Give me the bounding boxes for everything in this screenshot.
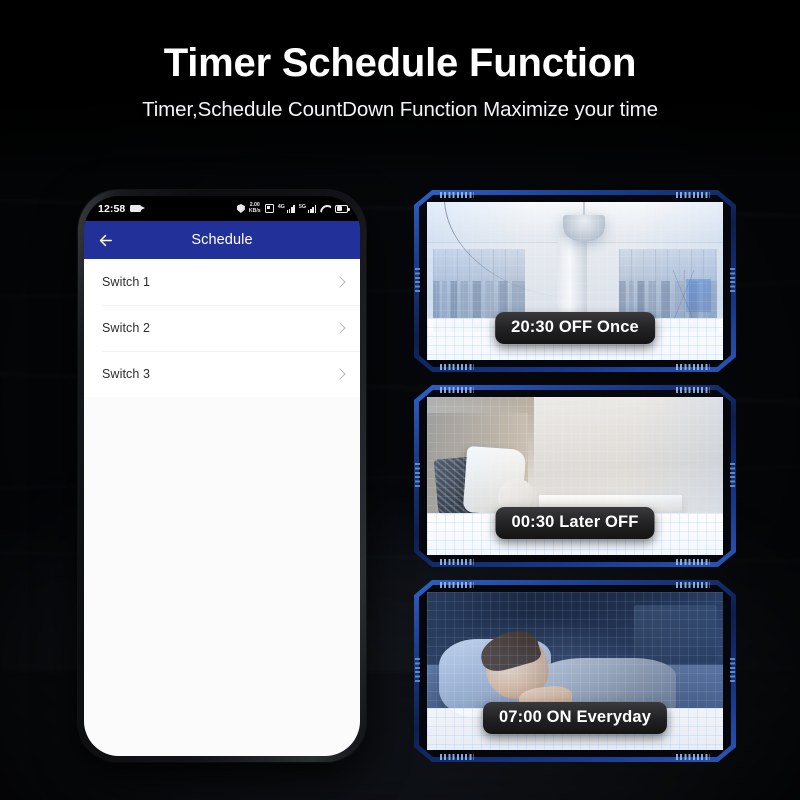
page-subtitle: Timer,Schedule CountDown Function Maximi… <box>0 98 800 122</box>
page-title: Timer Schedule Function <box>0 40 800 87</box>
app-content: Switch 1 Switch 2 Switch 3 <box>84 259 360 756</box>
network-1-label: 4G <box>278 204 285 210</box>
data-speed-icon: 2.00 KB/s <box>249 203 261 213</box>
frame-tick-bottom-right <box>676 364 710 370</box>
status-bar-icons: 2.00 KB/s 4G 5G <box>237 203 348 213</box>
frame-tick-top-left <box>440 192 474 198</box>
data-rate-unit: KB/s <box>249 209 261 214</box>
chevron-right-icon <box>334 276 345 287</box>
chevron-right-icon <box>334 322 345 333</box>
frame-tick-right <box>730 268 735 294</box>
battery-icon <box>335 205 348 213</box>
signal-bars-1 <box>287 205 295 213</box>
preview-card-off-once: 20:30 OFF Once <box>414 190 736 372</box>
frame-tick-top-right <box>676 387 710 393</box>
frame-tick-left <box>415 658 420 684</box>
status-bar-time: 12:58 <box>98 203 125 215</box>
wifi-icon <box>320 205 331 213</box>
frame-tick-left <box>415 463 420 489</box>
frame-tick-bottom-right <box>676 754 710 760</box>
preview-card-on-everyday: 07:00 ON Everyday <box>414 580 736 762</box>
app-bar: Schedule <box>84 221 360 259</box>
video-record-icon <box>130 205 141 212</box>
schedule-switch-list: Switch 1 Switch 2 Switch 3 <box>84 259 360 397</box>
app-bar-title: Schedule <box>84 232 360 248</box>
sim-card-icon <box>265 204 274 213</box>
list-item-label: Switch 2 <box>102 321 150 335</box>
frame-tick-right <box>730 463 735 489</box>
arrow-left-icon <box>97 232 114 249</box>
phone-mockup: 12:58 2.00 KB/s 4G 5G <box>78 190 366 762</box>
frame-tick-top-right <box>676 582 710 588</box>
heading-block: Timer Schedule Function Timer,Schedule C… <box>0 40 800 122</box>
frame-tick-right <box>730 658 735 684</box>
frame-tick-left <box>415 268 420 294</box>
card-label-text: 00:30 Later OFF <box>496 507 655 539</box>
frame-tick-bottom-left <box>440 754 474 760</box>
frame-tick-bottom-right <box>676 559 710 565</box>
frame-tick-top-right <box>676 192 710 198</box>
list-item-switch-3[interactable]: Switch 3 <box>84 351 360 397</box>
phone-screen: 12:58 2.00 KB/s 4G 5G <box>84 196 360 756</box>
frame-tick-bottom-left <box>440 364 474 370</box>
list-item-switch-2[interactable]: Switch 2 <box>84 305 360 351</box>
signal-5g-icon: 5G <box>299 204 316 213</box>
preview-card-later-off: 00:30 Later OFF <box>414 385 736 567</box>
signal-4g-icon: 4G <box>278 204 295 213</box>
card-label-text: 20:30 OFF Once <box>495 312 655 344</box>
network-2-label: 5G <box>299 204 306 210</box>
list-item-switch-1[interactable]: Switch 1 <box>84 259 360 305</box>
list-item-label: Switch 3 <box>102 367 150 381</box>
list-item-label: Switch 1 <box>102 275 150 289</box>
card-label-text: 07:00 ON Everyday <box>483 702 667 734</box>
chevron-right-icon <box>334 368 345 379</box>
signal-bars-2 <box>308 205 316 213</box>
schedule-preview-cards: 20:30 OFF Once <box>414 190 736 775</box>
frame-tick-bottom-left <box>440 559 474 565</box>
status-bar: 12:58 2.00 KB/s 4G 5G <box>84 196 360 221</box>
frame-tick-top-left <box>440 582 474 588</box>
back-button[interactable] <box>94 229 116 251</box>
screenshot-root: Timer Schedule Function Timer,Schedule C… <box>0 0 800 800</box>
frame-tick-top-left <box>440 387 474 393</box>
shield-icon <box>237 204 245 213</box>
